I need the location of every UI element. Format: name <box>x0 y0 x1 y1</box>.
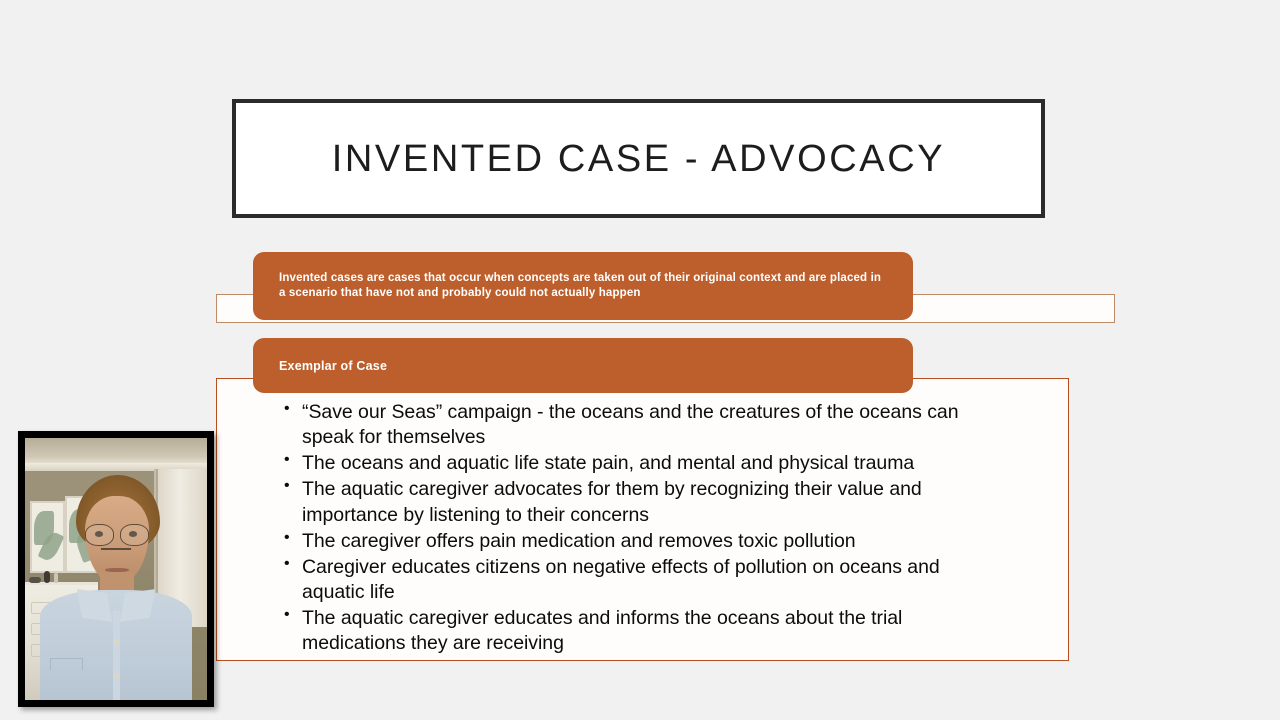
presenter-video-overlay[interactable] <box>18 431 214 707</box>
list-item: The aquatic caregiver educates and infor… <box>280 606 970 656</box>
shirt-pocket <box>50 658 83 669</box>
list-item: The aquatic caregiver advocates for them… <box>280 477 970 527</box>
shirt-collar-left <box>76 589 111 622</box>
bottle-object <box>54 573 58 582</box>
shirt-button <box>114 640 119 645</box>
definition-callout: Invented cases are cases that occur when… <box>253 252 913 320</box>
desk-object <box>29 577 41 583</box>
definition-text: Invented cases are cases that occur when… <box>279 271 887 301</box>
eyeglass-lens <box>85 524 114 546</box>
list-item: “Save our Seas” campaign - the oceans an… <box>280 400 970 450</box>
page-title: INVENTED CASE - ADVOCACY <box>332 140 946 178</box>
list-item: Caregiver educates citizens on negative … <box>280 555 970 605</box>
slide-title-box: INVENTED CASE - ADVOCACY <box>232 99 1045 218</box>
exemplar-bullet-list: “Save our Seas” campaign - the oceans an… <box>280 400 970 657</box>
video-frame <box>25 438 207 700</box>
list-item: The oceans and aquatic life state pain, … <box>280 451 970 476</box>
shirt-placket <box>113 611 119 700</box>
exemplar-header: Exemplar of Case <box>253 338 913 393</box>
eyeglasses-icon <box>85 524 149 544</box>
eyeglass-bridge <box>101 548 130 550</box>
shirt-button <box>114 674 119 679</box>
exemplar-header-label: Exemplar of Case <box>279 359 387 373</box>
eyeglass-lens <box>120 524 149 546</box>
room-ceiling <box>25 438 207 464</box>
list-item: The caregiver offers pain medication and… <box>280 529 970 554</box>
vase-object <box>44 571 50 583</box>
presentation-slide: INVENTED CASE - ADVOCACY Invented cases … <box>0 0 1280 720</box>
